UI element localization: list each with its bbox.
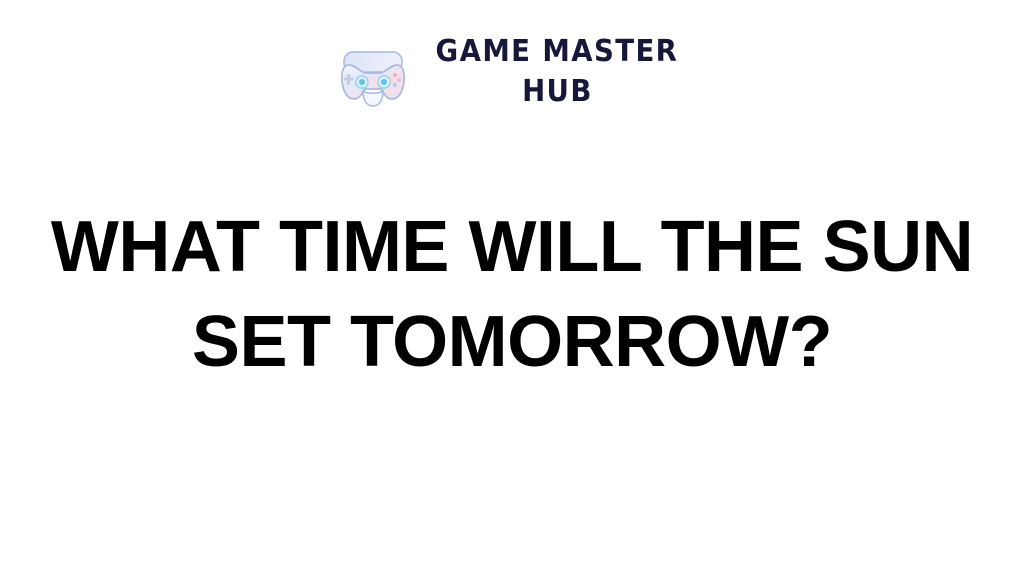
page-root: GAME MASTER HUB WHAT TIME WILL THE SUN S… <box>0 0 1024 576</box>
headline-line-1: WHAT TIME WILL THE SUN <box>40 200 984 295</box>
brand-header: GAME MASTER HUB <box>0 33 1024 117</box>
page-title: WHAT TIME WILL THE SUN SET TOMORROW? <box>0 200 1024 390</box>
brand-lockup: GAME MASTER HUB <box>335 33 689 117</box>
brand-text: GAME MASTER HUB <box>425 33 689 109</box>
gamepad-icon <box>335 41 411 117</box>
brand-name-line1: GAME MASTER <box>436 35 679 69</box>
headline-line-2: SET TOMORROW? <box>40 295 984 390</box>
brand-name-line2: HUB <box>522 75 593 109</box>
